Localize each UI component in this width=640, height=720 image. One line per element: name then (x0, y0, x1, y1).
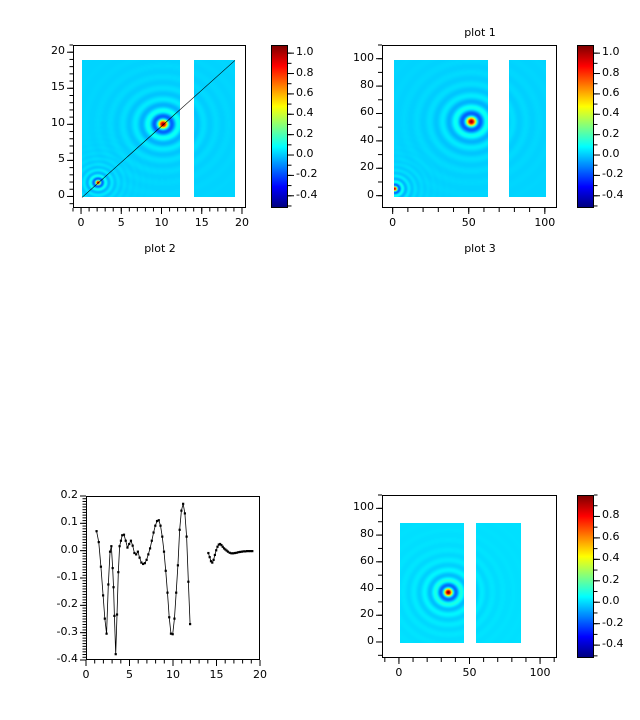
tick-label: 0.4 (602, 551, 640, 564)
tick-label: -0.4 (602, 637, 640, 650)
tick-label: 0.6 (602, 530, 640, 543)
tick-label: -0.2 (602, 167, 640, 180)
tick-label: 0.2 (602, 127, 640, 140)
tick-label: 0.2 (18, 488, 78, 501)
tick-label: -0.2 (602, 616, 640, 629)
panel-bottom-right-title: plot 3 (320, 242, 640, 255)
tick-label: 0.8 (602, 508, 640, 521)
panel-top-left: 0510152005101520 1.00.80.60.40.20.0-0.2-… (0, 0, 320, 240)
tick-label: 0.8 (602, 66, 640, 79)
tick-label: -0.4 (602, 188, 640, 201)
panel-bottom-right: plot 3 050100020406080100 0.80.60.40.20.… (320, 240, 640, 480)
tick-label: 0.4 (602, 106, 640, 119)
panel-bottom-left: plot 2 051015200.20.10.0-0.1-0.2-0.3-0.4 (0, 240, 320, 480)
tick-label: 0.0 (602, 147, 640, 160)
tick-label: 0.2 (602, 573, 640, 586)
tick-label: -0.2 (18, 597, 78, 610)
colorbar-plot-1-ticklabels: 1.00.80.60.40.20.0-0.2-0.4 (320, 0, 640, 240)
axes-plot-2-ticklabels: 051015200.20.10.0-0.1-0.2-0.3-0.4 (0, 480, 320, 720)
tick-label: 0.0 (18, 543, 78, 556)
tick-label: 0.6 (602, 86, 640, 99)
panel-bottom-left-title: plot 2 (0, 242, 320, 255)
colorbar-plot-3-ticklabels: 0.80.60.40.20.0-0.2-0.4 (320, 480, 640, 720)
panel-top-right: plot 1 050100020406080100 1.00.80.60.40.… (320, 0, 640, 240)
figure-canvas: 0510152005101520 1.00.80.60.40.20.0-0.2-… (0, 0, 640, 480)
tick-label: 1.0 (602, 45, 640, 58)
tick-label: 20 (230, 668, 290, 681)
tick-label: -0.4 (18, 652, 78, 665)
colorbar-top-left-ticklabels: 1.00.80.60.40.20.0-0.2-0.4 (0, 0, 320, 240)
tick-label: 0.1 (18, 515, 78, 528)
tick-label: -0.3 (18, 625, 78, 638)
tick-label: 0.0 (602, 594, 640, 607)
tick-label: -0.1 (18, 570, 78, 583)
